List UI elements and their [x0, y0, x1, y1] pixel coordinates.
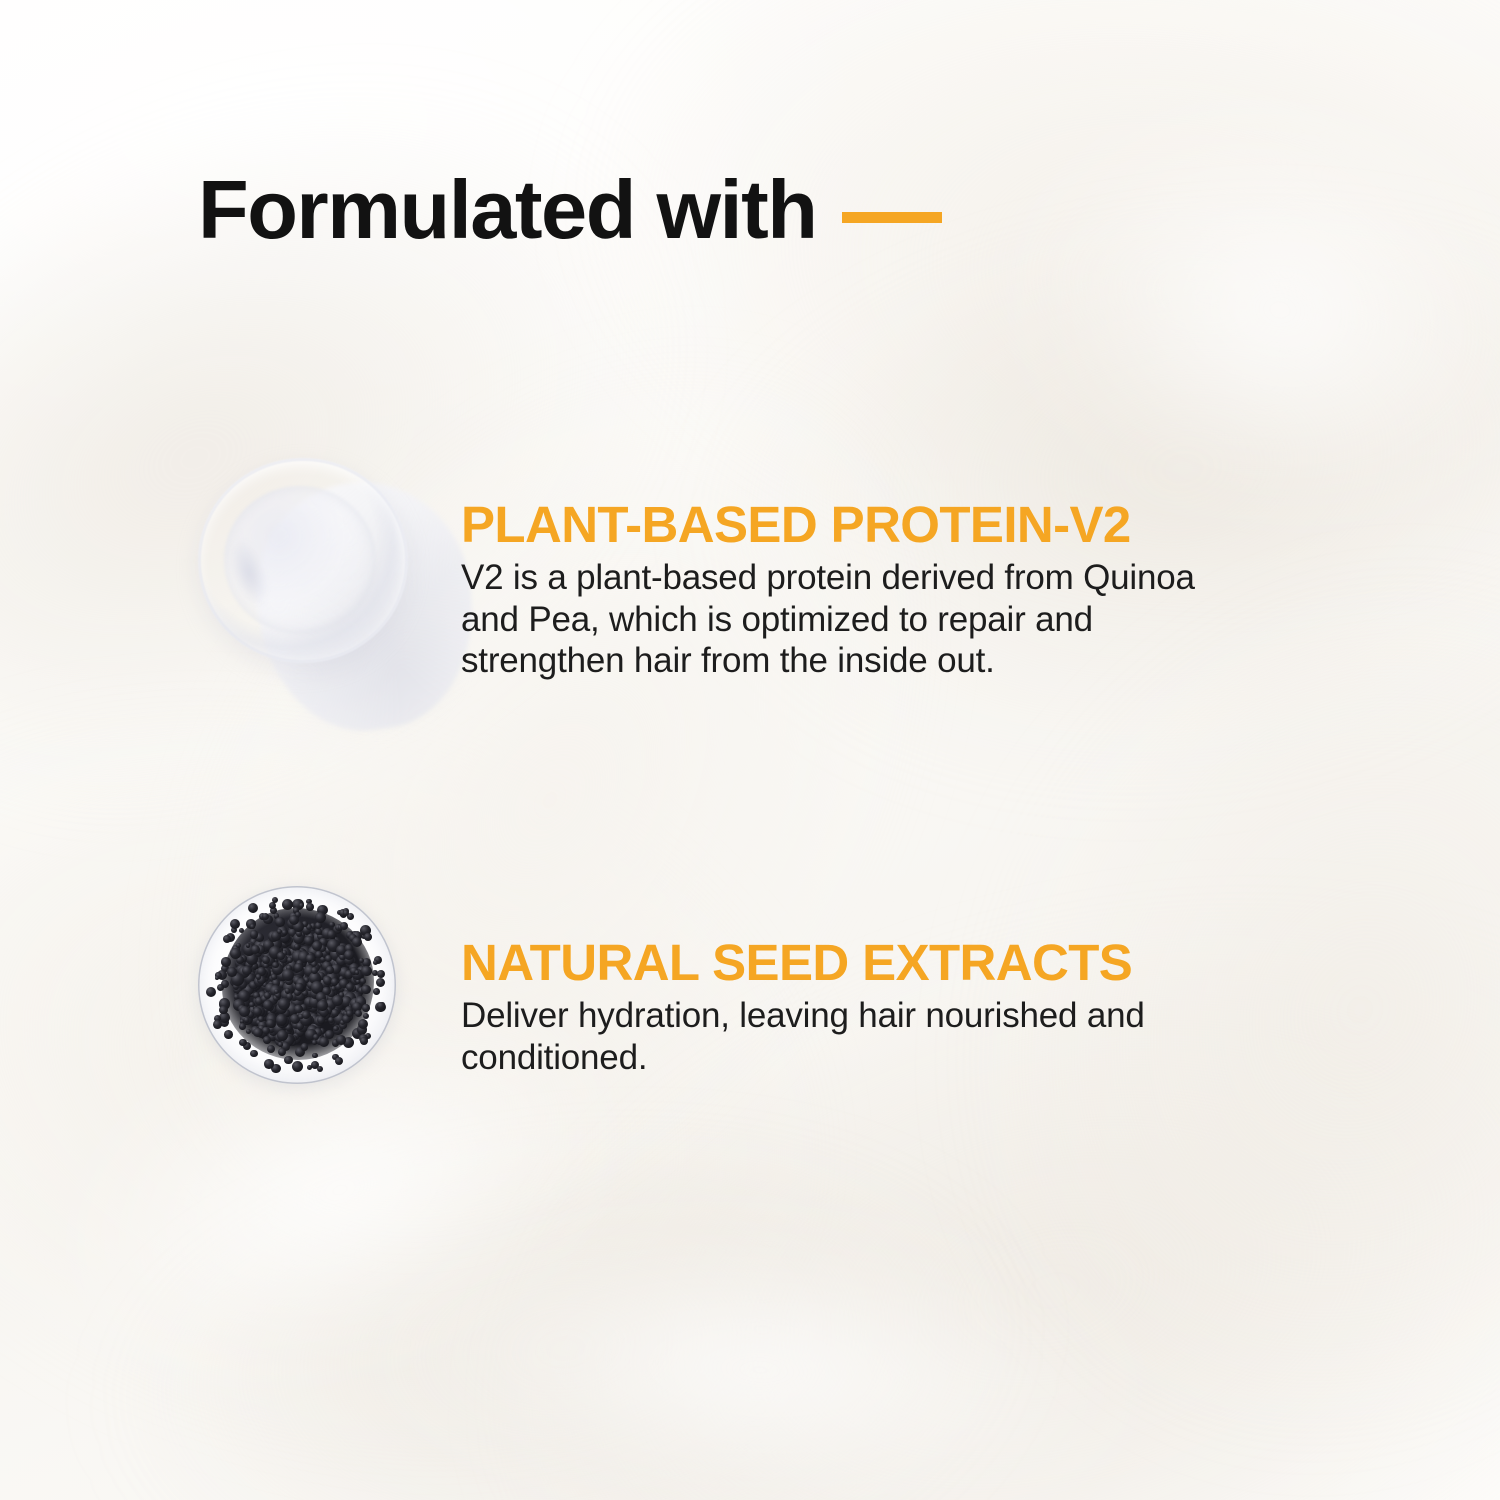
seed	[239, 1006, 250, 1017]
page-title: Formulated with	[198, 168, 942, 251]
seed	[221, 957, 230, 966]
seed	[227, 967, 237, 977]
seed	[284, 1056, 292, 1064]
ingredient-block-natural-seed-extracts: NATURAL SEED EXTRACTS Deliver hydration,…	[461, 936, 1331, 1078]
seed	[282, 899, 293, 910]
seed	[333, 1026, 338, 1031]
seed	[253, 1028, 262, 1037]
seed	[264, 1059, 274, 1069]
seed	[360, 1037, 368, 1045]
seed	[230, 919, 240, 929]
seed	[306, 954, 315, 963]
seed	[344, 950, 354, 960]
seed	[312, 1053, 318, 1059]
seed	[239, 1039, 246, 1046]
seed	[250, 924, 255, 929]
seed	[295, 983, 304, 992]
seed	[215, 976, 220, 981]
seed	[319, 1037, 329, 1047]
seed	[277, 952, 285, 960]
seed	[263, 1000, 273, 1010]
seed	[277, 929, 282, 934]
seed	[287, 957, 293, 963]
seed	[312, 941, 322, 951]
seed	[376, 978, 386, 988]
seed	[282, 969, 294, 981]
seed	[275, 917, 285, 927]
seed	[246, 943, 251, 948]
seed	[373, 988, 380, 995]
seed	[346, 1010, 353, 1017]
seed	[327, 930, 336, 939]
seed	[373, 960, 379, 966]
seed	[213, 1020, 222, 1029]
seed	[340, 922, 348, 930]
seed	[267, 1045, 275, 1053]
seed	[272, 897, 278, 903]
seed	[295, 912, 301, 918]
seed	[317, 1000, 328, 1011]
product-benefits-card: Formulated with PLANT-BASED PROTEIN-V2 V…	[0, 0, 1500, 1500]
seed	[248, 903, 258, 913]
seed	[307, 1065, 312, 1070]
seed	[242, 966, 252, 976]
seed	[278, 1042, 283, 1047]
ingredient-title: NATURAL SEED EXTRACTS	[461, 936, 1331, 989]
seed	[285, 988, 291, 994]
seed	[326, 966, 334, 974]
clear-glass-vial-image	[180, 440, 500, 740]
seed	[230, 948, 241, 959]
seed	[256, 974, 262, 980]
seed	[263, 1036, 271, 1044]
page-title-text: Formulated with	[198, 168, 816, 251]
ingredient-description: V2 is a plant-based protein derived from…	[461, 557, 1261, 682]
title-accent-dash-icon	[842, 212, 942, 223]
seed	[224, 1030, 233, 1039]
seed	[278, 1048, 286, 1056]
seed	[361, 985, 371, 995]
seed	[246, 1029, 251, 1034]
seed	[223, 935, 231, 943]
seed	[292, 1061, 303, 1072]
seed	[206, 987, 216, 997]
seed	[301, 1043, 309, 1051]
seed	[274, 989, 279, 994]
seed	[362, 1004, 370, 1012]
seed	[264, 992, 271, 999]
ingredient-title: PLANT-BASED PROTEIN-V2	[461, 498, 1261, 551]
seed	[262, 956, 270, 964]
seed	[317, 1016, 325, 1024]
seed	[239, 1023, 246, 1030]
ingredient-block-plant-based-protein: PLANT-BASED PROTEIN-V2 V2 is a plant-bas…	[461, 498, 1261, 682]
seed	[328, 1017, 334, 1023]
black-seeds-group	[198, 886, 396, 1084]
seed	[299, 903, 304, 908]
seed	[315, 951, 323, 959]
seed	[315, 912, 326, 923]
seed	[317, 1066, 323, 1072]
seed	[361, 966, 372, 977]
seed	[250, 1050, 257, 1057]
seed	[363, 1013, 369, 1019]
seed	[219, 1006, 228, 1015]
seed	[276, 1014, 288, 1026]
seed	[336, 1035, 346, 1045]
seed	[364, 933, 372, 941]
petri-dish-black-seeds-image	[198, 886, 396, 1084]
ingredient-description: Deliver hydration, leaving hair nourishe…	[461, 995, 1331, 1078]
seed	[294, 1005, 302, 1013]
seed	[306, 903, 314, 911]
seed	[250, 930, 258, 938]
seed	[313, 1034, 319, 1040]
seed	[251, 945, 260, 954]
seed	[294, 944, 299, 949]
seed	[335, 1057, 344, 1066]
seed	[377, 970, 385, 978]
seed	[360, 978, 366, 984]
